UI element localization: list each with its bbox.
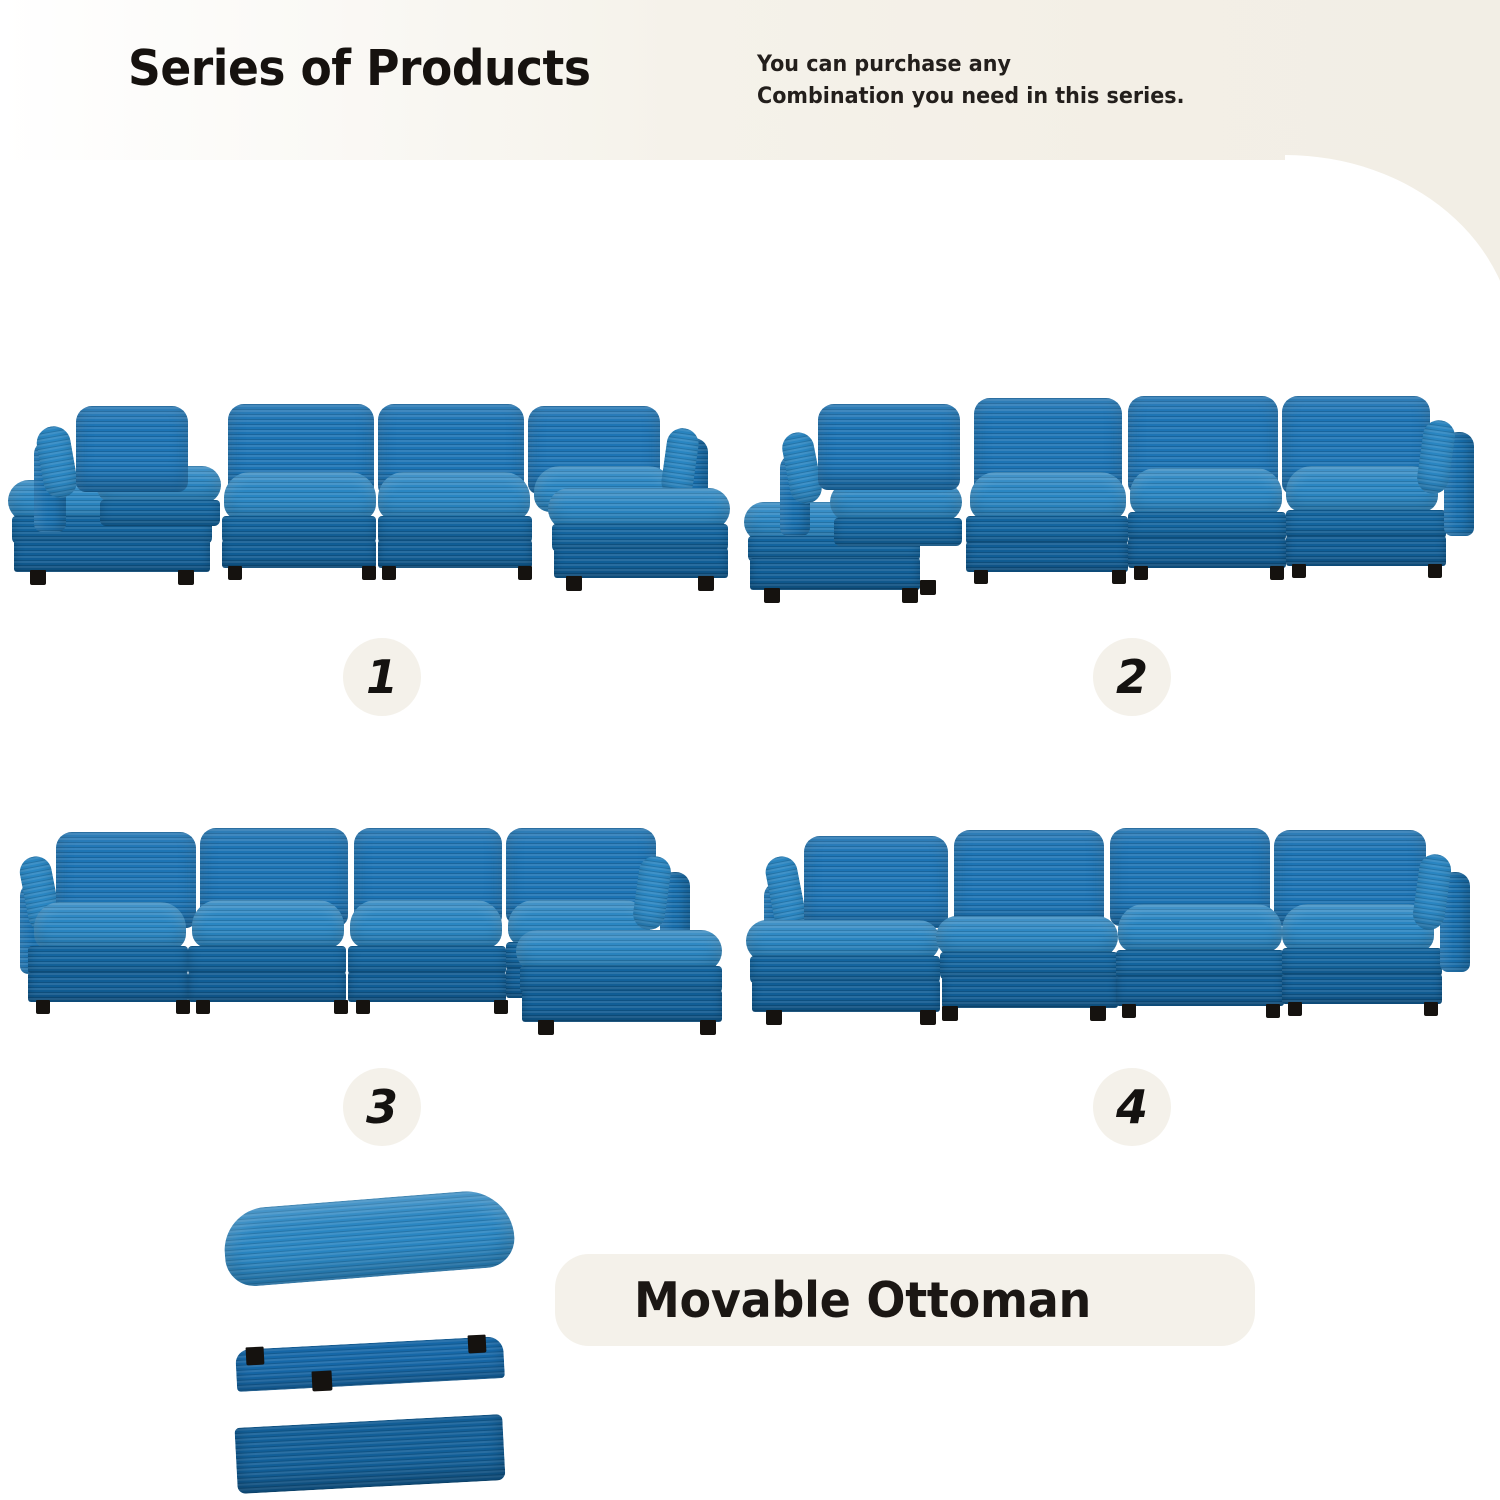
ottoman-leg [700,1020,716,1035]
ottoman-leg [698,576,714,591]
ottoman-base-2 [942,976,1118,1008]
module-base [348,972,506,1002]
sofa-leg [518,566,532,580]
back-cushion [954,830,1104,928]
configuration-1 [0,380,750,630]
config-badge-4: 4 [1093,1068,1171,1146]
ottoman-leg [566,576,582,591]
seat-cushion [224,472,376,520]
seat-cushion [350,900,502,948]
ottoman-leg [30,570,46,585]
product-series-infographic: Series of Products You can purchase any … [0,0,1500,1500]
sofa-leg [1270,566,1284,580]
module-base [1128,538,1286,568]
module-base [222,540,376,568]
config-badge-2: 2 [1093,638,1171,716]
module-base [1116,976,1284,1006]
sofa-leg [1428,564,1442,578]
ottoman-leg [246,1347,265,1366]
ottoman-base-left [14,540,210,572]
sofa-leg [334,1000,348,1014]
sofa-leg [228,566,242,580]
ottoman-base-right [554,548,728,578]
ottoman-leg [766,1010,782,1025]
ottoman-upper-frame [235,1336,505,1392]
ottoman-leg [920,580,936,595]
sofa-leg [1112,570,1126,584]
sofa-leg [362,566,376,580]
ottoman-leg [920,1010,936,1025]
module-base [1282,974,1442,1004]
ottoman-leg [764,588,780,603]
ottoman-base-right [522,990,722,1022]
sofa-leg [494,1000,508,1014]
module-base [966,542,1128,572]
ottoman-top-cushion [221,1188,516,1289]
module-base [28,972,188,1002]
module-base [378,540,532,568]
module-base [1286,536,1446,566]
sofa-leg [176,1000,190,1014]
ottoman-leg [178,570,194,585]
seat-cushion [378,472,530,520]
sofa-leg [974,570,988,584]
ottoman-leg [1090,1006,1106,1021]
header-corner-notch [1285,155,1500,335]
sofa-leg [1122,1004,1136,1018]
configuration-2 [730,380,1500,630]
back-cushion [76,406,188,492]
header-subtitle: You can purchase any Combination you nee… [757,49,1184,112]
sofa-leg [356,1000,370,1014]
ottoman-leg [311,1370,332,1391]
config-badge-1: 1 [343,638,421,716]
ottoman-base-front [750,558,920,590]
seat-cushion [1130,468,1282,516]
configuration-4 [730,810,1500,1060]
back-cushion [804,836,948,928]
ottoman-leg [942,1006,958,1021]
movable-ottoman-label: Movable Ottoman [555,1272,1091,1329]
seat-cushion [192,900,344,948]
sofa-leg [1134,566,1148,580]
sofa-leg [36,1000,50,1014]
sofa-leg [382,566,396,580]
back-cushion [818,404,960,490]
sofa-leg [1292,564,1306,578]
ottoman-lower-base [234,1414,505,1494]
ottoman-base-1 [752,980,940,1012]
seat-cushion [1286,466,1438,512]
corner-chaise-frame [834,518,962,546]
movable-ottoman-product [210,1195,590,1425]
ottoman-leg [538,1020,554,1035]
sofa-leg [1266,1004,1280,1018]
ottoman-leg [468,1335,487,1354]
configuration-3 [0,810,750,1060]
seat-cushion [1282,904,1434,952]
chaise-frame-left [100,500,220,526]
movable-ottoman-banner: Movable Ottoman [555,1254,1255,1346]
page-title: Series of Products [128,40,591,97]
sofa-leg [1424,1002,1438,1016]
config-badge-3: 3 [343,1068,421,1146]
seat-cushion [970,472,1126,520]
ottoman-leg [902,588,918,603]
sofa-leg [196,1000,210,1014]
seat-cushion [34,902,186,950]
module-base [188,972,346,1002]
sofa-leg [1288,1002,1302,1016]
seat-cushion [1118,904,1282,952]
